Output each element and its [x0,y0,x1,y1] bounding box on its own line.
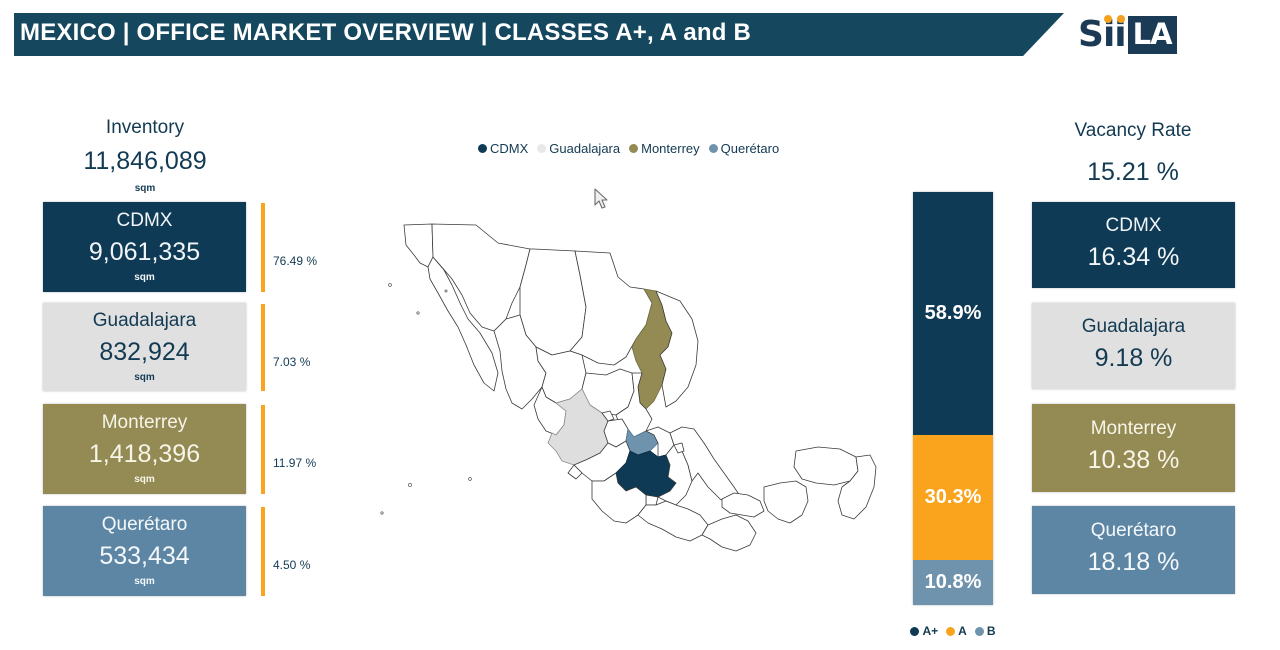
card-city-unit: sqm [134,272,155,283]
island-marker [417,312,419,314]
inventory-card-monterrey[interactable]: Monterrey 1,418,396 sqm [43,404,246,494]
mexico-map-svg [370,215,910,615]
island-marker [408,483,411,486]
vacancy-card-cdmx[interactable]: CDMX 16.34 % [1032,202,1235,288]
card-city-unit: sqm [134,576,155,587]
island-marker [389,284,392,287]
inventory-share-label-guadalajara: 7.03 % [273,355,310,369]
inventory-card-queretaro[interactable]: Querétaro 533,434 sqm [43,506,246,596]
legend-label-queretaro: Querétaro [721,141,780,156]
inventory-share-bar-queretaro [261,507,265,596]
inventory-total-unit: sqm [30,183,260,194]
stack-label-a: 30.3% [925,486,982,509]
vacancy-card-guadalajara[interactable]: Guadalajara 9.18 % [1032,303,1235,389]
page-title: MEXICO | OFFICE MARKET OVERVIEW | CLASSE… [20,19,751,47]
inventory-share-bar-monterrey [261,405,265,494]
card-city-name: CDMX [117,211,173,232]
mexico-map[interactable] [370,215,910,615]
vacancy-card-monterrey[interactable]: Monterrey 10.38 % [1032,404,1235,492]
stack-label-b: 10.8% [925,571,982,594]
mouse-cursor-icon [594,188,610,210]
siila-logo: S ii LA [1078,16,1177,54]
chart-legend-item-b[interactable]: B [975,624,996,638]
inventory-card-cdmx[interactable]: CDMX 9,061,335 sqm [43,202,246,292]
inventory-total-value: 11,846,089 [30,147,260,176]
stack-segment-a[interactable]: 30.3% [913,435,993,560]
chart-legend-label-a-plus: A+ [922,624,938,638]
logo-dot-right-icon [1117,15,1125,23]
card-city-unit: sqm [134,474,155,485]
legend-dot-cdmx-icon [478,144,487,153]
island-marker [469,478,472,481]
map-legend: CDMX Guadalajara Monterrey Querétaro [478,141,779,156]
legend-dot-b-icon [975,627,984,636]
card-city-value: 18.18 % [1088,547,1180,578]
card-city-unit: sqm [134,372,155,383]
state-tabasco [722,493,764,517]
state-campeche [764,481,808,523]
stack-segment-a-plus[interactable]: 58.9% [913,192,993,435]
logo-dot-left-icon [1104,15,1112,23]
card-city-name: Guadalajara [1082,317,1186,338]
legend-dot-a-icon [946,627,955,636]
card-city-name: Guadalajara [93,311,197,332]
stack-label-a-plus: 58.9% [925,302,982,325]
chart-legend-item-a-plus[interactable]: A+ [910,624,938,638]
inventory-share-label-queretaro: 4.50 % [273,558,310,572]
class-chart-legend: A+ A B [897,624,1009,638]
card-city-value: 832,924 [99,337,189,368]
map-legend-item-cdmx[interactable]: CDMX [478,141,528,156]
card-city-name: Monterrey [1091,419,1177,440]
class-distribution-chart[interactable]: 58.9% 30.3% 10.8% [913,192,993,605]
chart-legend-label-b: B [987,624,996,638]
card-city-value: 10.38 % [1088,445,1180,476]
chart-legend-label-a: A [958,624,967,638]
map-legend-item-monterrey[interactable]: Monterrey [629,141,700,156]
map-legend-item-queretaro[interactable]: Querétaro [709,141,780,156]
logo-letters-ii: ii [1103,17,1126,53]
vacancy-card-queretaro[interactable]: Querétaro 18.18 % [1032,506,1235,594]
inventory-share-label-monterrey: 11.97 % [273,456,316,470]
card-city-name: Querétaro [1091,521,1177,542]
state-morelos [646,495,658,505]
chart-legend-item-a[interactable]: A [946,624,967,638]
map-legend-item-guadalajara[interactable]: Guadalajara [537,141,620,156]
inventory-share-label-cdmx: 76.49 % [273,254,317,268]
card-city-name: Querétaro [102,515,188,536]
legend-dot-a-plus-icon [910,627,919,636]
island-marker [445,290,447,292]
logo-letter-s: S [1078,17,1103,53]
state-yucatan [794,447,858,485]
card-city-value: 9,061,335 [89,237,200,268]
card-city-value: 1,418,396 [89,439,200,470]
inventory-card-guadalajara[interactable]: Guadalajara 832,924 sqm [43,303,246,391]
state-oaxaca [638,501,708,541]
state-chiapas [702,515,756,551]
legend-dot-monterrey-icon [629,144,638,153]
legend-label-guadalajara: Guadalajara [549,141,620,156]
card-city-value: 533,434 [99,541,189,572]
state-baja-california [404,224,433,267]
card-city-name: Monterrey [102,413,188,434]
card-city-name: CDMX [1106,216,1162,237]
legend-label-monterrey: Monterrey [641,141,700,156]
vacancy-total-value: 15.21 % [1018,158,1248,187]
legend-label-cdmx: CDMX [490,141,528,156]
inventory-title: Inventory [30,117,260,139]
stack-segment-b[interactable]: 10.8% [913,560,993,605]
legend-dot-guadalajara-icon [537,144,546,153]
island-marker [381,512,383,514]
card-city-value: 16.34 % [1088,242,1180,273]
inventory-share-bar-guadalajara [261,304,265,391]
legend-dot-queretaro-icon [709,144,718,153]
logo-badge-la: LA [1128,16,1177,54]
card-city-value: 9.18 % [1095,343,1173,374]
inventory-share-bar-cdmx [261,203,265,292]
page-header: MEXICO | OFFICE MARKET OVERVIEW | CLASSE… [0,0,1280,70]
vacancy-title: Vacancy Rate [1018,120,1248,142]
